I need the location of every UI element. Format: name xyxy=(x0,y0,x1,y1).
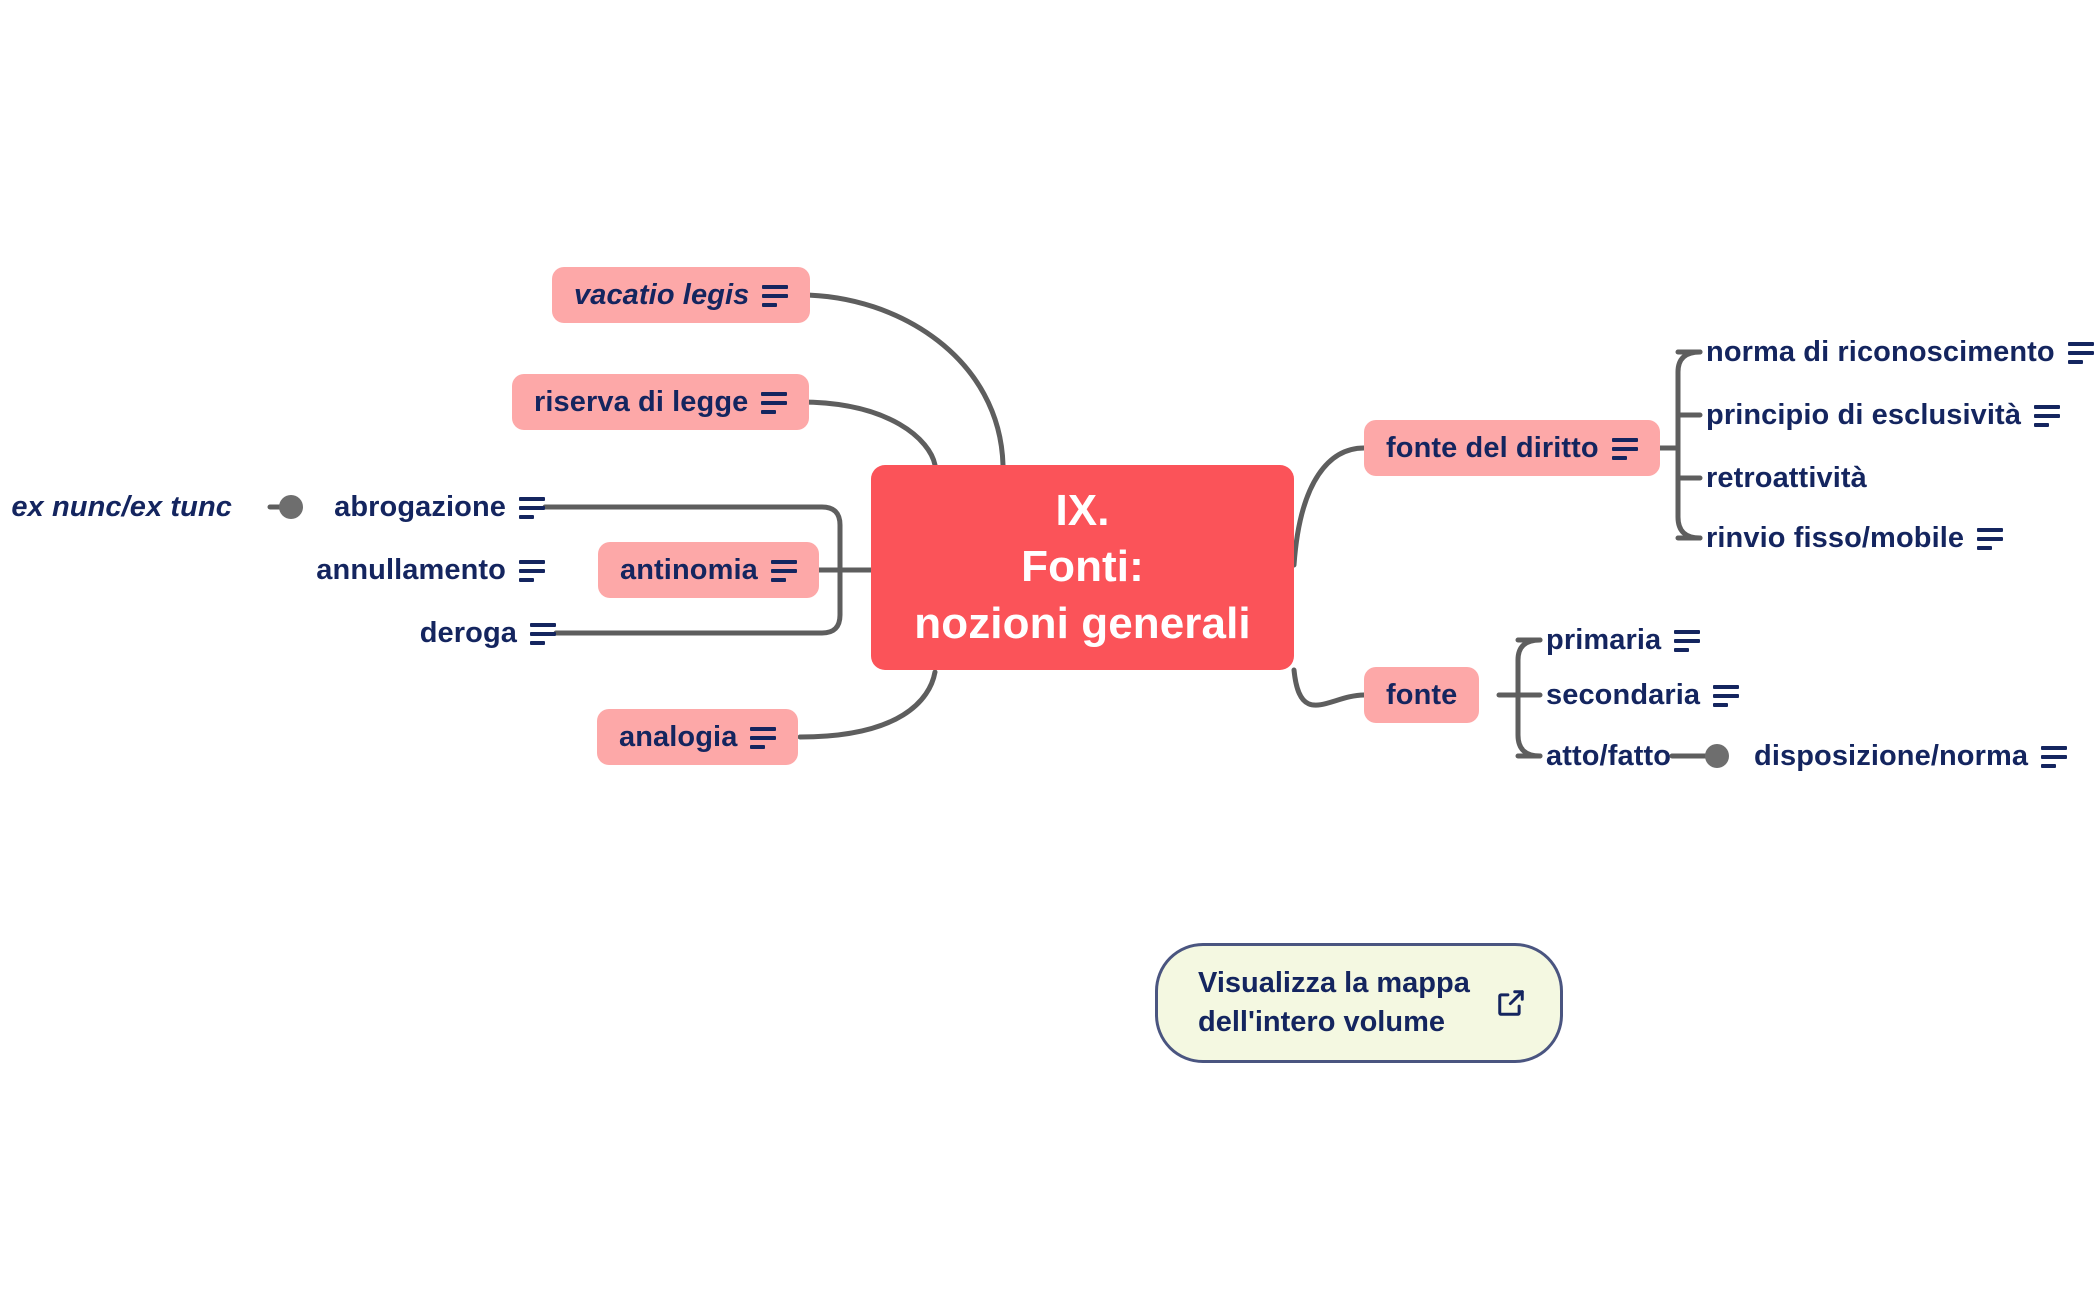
note-icon[interactable] xyxy=(2041,746,2067,768)
note-icon[interactable] xyxy=(519,497,545,519)
node-principio-di-esclusivita[interactable]: principio di esclusività xyxy=(1706,392,2060,438)
edge-fonte-bracket xyxy=(1518,640,1540,756)
node-ex-nunc-ex-tunc-label: ex nunc/ex tunc xyxy=(11,491,232,524)
node-norma-di-riconoscimento[interactable]: norma di riconoscimento xyxy=(1706,329,2094,375)
node-annullamento-label: annullamento xyxy=(316,554,506,587)
view-full-volume-map-button[interactable]: Visualizza la mappa dell'intero volume xyxy=(1155,943,1563,1063)
node-riserva-di-legge-label: riserva di legge xyxy=(534,386,748,419)
note-icon[interactable] xyxy=(530,623,556,645)
node-fonte-label: fonte xyxy=(1386,679,1457,712)
note-icon[interactable] xyxy=(2068,342,2094,364)
node-vacatio-legis-label: vacatio legis xyxy=(574,279,749,312)
node-deroga-label: deroga xyxy=(420,617,517,650)
note-icon[interactable] xyxy=(761,392,787,414)
edge-root-fonte-del-diritto xyxy=(1294,448,1364,565)
node-principio-di-esclusivita-label: principio di esclusività xyxy=(1706,399,2021,432)
node-analogia[interactable]: analogia xyxy=(597,709,798,765)
node-annullamento[interactable]: annullamento xyxy=(200,547,545,593)
node-disposizione-norma-label: disposizione/norma xyxy=(1754,740,2028,773)
note-icon[interactable] xyxy=(2034,405,2060,427)
node-retroattivita-label: retroattività xyxy=(1706,462,1867,495)
node-retroattivita[interactable]: retroattività xyxy=(1706,455,1867,501)
node-rinvio-fisso-mobile-label: rinvio fisso/mobile xyxy=(1706,522,1964,555)
node-fonte-del-diritto-label: fonte del diritto xyxy=(1386,432,1599,465)
node-disposizione-norma[interactable]: disposizione/norma xyxy=(1754,733,2067,779)
node-fonte[interactable]: fonte xyxy=(1364,667,1479,723)
node-ex-nunc-ex-tunc[interactable]: ex nunc/ex tunc xyxy=(0,484,270,530)
root-node[interactable]: IX. Fonti: nozioni generali xyxy=(871,465,1294,670)
edge-root-fonte xyxy=(1294,670,1364,705)
edge-root-analogia xyxy=(800,672,935,737)
note-icon[interactable] xyxy=(519,560,545,582)
node-secondaria-label: secondaria xyxy=(1546,679,1700,712)
note-icon[interactable] xyxy=(750,727,776,749)
dot-atto-fatto xyxy=(1705,744,1729,768)
node-deroga[interactable]: deroga xyxy=(200,610,556,656)
edge-root-riserva-di-legge xyxy=(800,402,935,465)
note-icon[interactable] xyxy=(1674,630,1700,652)
node-primaria-label: primaria xyxy=(1546,624,1661,657)
node-primaria[interactable]: primaria xyxy=(1546,617,1700,663)
node-antinomia[interactable]: antinomia xyxy=(598,542,819,598)
node-riserva-di-legge[interactable]: riserva di legge xyxy=(512,374,809,430)
note-icon[interactable] xyxy=(771,560,797,582)
root-label: IX. Fonti: nozioni generali xyxy=(914,483,1251,652)
node-antinomia-label: antinomia xyxy=(620,554,758,587)
node-atto-fatto-label: atto/fatto xyxy=(1546,740,1671,773)
node-rinvio-fisso-mobile[interactable]: rinvio fisso/mobile xyxy=(1706,515,2003,561)
node-abrogazione-label: abrogazione xyxy=(334,491,506,524)
note-icon[interactable] xyxy=(1977,528,2003,550)
external-link-icon xyxy=(1496,988,1526,1018)
edge-root-vacatio-legis xyxy=(800,295,1003,465)
note-icon[interactable] xyxy=(1713,685,1739,707)
mindmap-canvas: IX. Fonti: nozioni generali vacatio legi… xyxy=(0,0,2098,1300)
node-vacatio-legis[interactable]: vacatio legis xyxy=(552,267,810,323)
node-analogia-label: analogia xyxy=(619,721,737,754)
note-icon[interactable] xyxy=(762,285,788,307)
edge-fonte-del-diritto-bracket xyxy=(1678,352,1700,538)
node-secondaria[interactable]: secondaria xyxy=(1546,672,1739,718)
note-icon[interactable] xyxy=(1612,438,1638,460)
node-fonte-del-diritto[interactable]: fonte del diritto xyxy=(1364,420,1660,476)
node-atto-fatto[interactable]: atto/fatto xyxy=(1546,733,1671,779)
node-norma-di-riconoscimento-label: norma di riconoscimento xyxy=(1706,336,2055,369)
view-full-volume-map-label: Visualizza la mappa dell'intero volume xyxy=(1198,964,1470,1042)
